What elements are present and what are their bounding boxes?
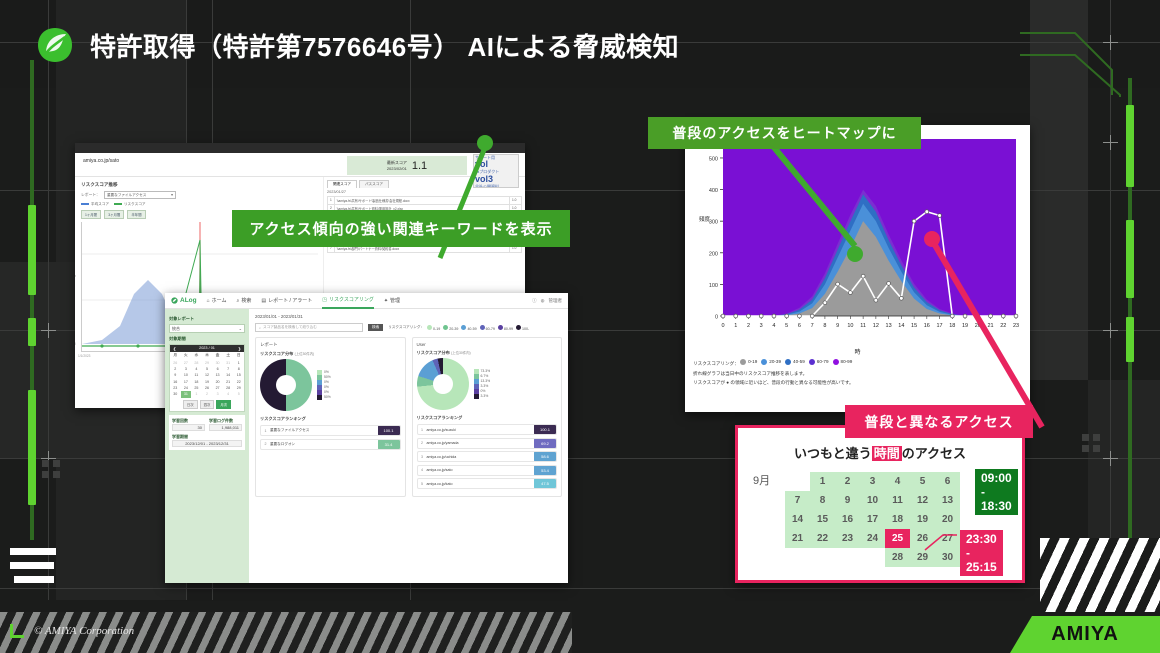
calendar-day[interactable]: 3	[212, 391, 223, 397]
amiya-brand-tag: AMIYA	[1010, 616, 1160, 653]
chart-legend-item: 20-39	[761, 358, 781, 366]
latest-score-label: 最新スコア	[387, 160, 407, 165]
report-donut-wrap: 0%50%0%0%0%50%	[260, 359, 401, 411]
ranking-score: 69.2	[534, 438, 556, 449]
risk-trend-title: リスクスコア推移	[81, 182, 317, 188]
anomaly-calendar-day[interactable]: 7	[785, 491, 810, 510]
user-donut-chart	[417, 358, 469, 410]
calendar-monthly-button[interactable]: 月次	[216, 400, 231, 409]
ranking-row[interactable]: 4amiya.co.jp/sato53.4	[417, 465, 558, 476]
svg-text:0: 0	[715, 315, 718, 321]
leader-dot-heatmap	[847, 246, 863, 262]
report-select-value: 重要なファイルアクセス	[107, 193, 146, 198]
callout-heatmap: 普段のアクセスをヒートマップに	[648, 117, 921, 149]
anomaly-calendar-day[interactable]: 21	[785, 529, 810, 548]
svg-text:頻度: 頻度	[699, 215, 711, 223]
user-donut-title: リスクスコア分布 (上位30件内)	[417, 350, 558, 356]
ranking-index: 5	[418, 482, 427, 486]
trend-legend: 平均スコア リスクスコア	[81, 202, 317, 207]
anomaly-calendar-day[interactable]: 3	[860, 472, 885, 491]
ranking-score: 53.4	[534, 465, 556, 476]
ranking-name: amiya.co.jp/suzuki	[427, 428, 535, 432]
calendar-dow: 金	[212, 352, 223, 359]
risk-legend-item: 20-39	[443, 325, 458, 331]
range-1m-button[interactable]: 1ヶ月間	[81, 210, 101, 219]
report-ranking-title: リスクスコアランキング	[260, 416, 401, 422]
tab-path-score[interactable]: パススコア	[359, 180, 389, 188]
crosshair-marker	[41, 323, 56, 338]
callout-keywords: アクセス傾向の強い関連キーワードを表示	[232, 210, 570, 247]
anomaly-calendar-day	[860, 548, 885, 567]
svg-text:4: 4	[772, 323, 775, 329]
svg-text:15: 15	[911, 323, 917, 329]
y-tick: 0	[75, 342, 76, 346]
crosshair-marker	[1103, 451, 1118, 466]
alog-user-name: 管理者	[549, 298, 563, 304]
legend-risk: リスクスコア	[114, 202, 145, 207]
chevron-down-icon: ⌄	[239, 326, 242, 331]
calendar-day[interactable]: 1	[191, 391, 202, 397]
accent-bar-left-lit	[28, 390, 36, 505]
chart-legend-item: 60-79	[809, 358, 829, 366]
crosshair-marker	[1103, 323, 1118, 338]
alog-sidebar: 対象レポート 統合⌄ 対象期間 ❮ 2023 / 01 ❯ 月火水木金土日262…	[165, 309, 249, 583]
calendar-header: ❮ 2023 / 01 ❯	[170, 345, 244, 352]
alog-nav-search[interactable]: ⌕検索	[237, 297, 252, 304]
footer-stripes-right	[1040, 538, 1160, 612]
user-ranking-title: リスクスコアランキング	[417, 415, 558, 421]
accent-bar-left-lit	[28, 205, 36, 295]
anomaly-calendar-day[interactable]: 5	[910, 472, 935, 491]
report-donut-title: リスクスコア分布 (上位30件内)	[260, 351, 401, 357]
anomaly-calendar-day[interactable]: 23	[835, 529, 860, 548]
menu-icon[interactable]	[10, 548, 56, 590]
ranking-name: 重要なログオン	[270, 442, 378, 447]
anomaly-calendar-day[interactable]: 15	[810, 510, 835, 529]
report-donut-legend: 0%50%0%0%0%50%	[317, 370, 331, 400]
user-donut-legend: 73.3%6.7%13.3%3.3%0%3.3%	[474, 369, 491, 399]
ranking-score: 100.1	[378, 425, 400, 436]
alog-brand-text: ALog	[180, 297, 197, 304]
alog-screenshot[interactable]: ALog ⌂ホーム ⌕検索 ▤レポート / アラート ◳リスクスコアリング ✦管…	[165, 293, 568, 583]
anomaly-calendar-month: 9月	[753, 472, 770, 488]
report-panel: レポート リスクスコア分布 (上位30件内) 0%50%0%0%0%50% リス…	[255, 337, 406, 497]
ranking-index: 3	[418, 455, 427, 459]
calendar-day[interactable]: 5	[233, 391, 244, 397]
corner-trace-lines	[1020, 25, 1160, 105]
leader-line-keywords	[430, 140, 530, 270]
ranking-row[interactable]: 3amiya.co.jp/uchida58.6	[417, 451, 558, 462]
anomaly-calendar-day[interactable]: 9	[835, 491, 860, 510]
anomaly-calendar-title: いつもと違う時間のアクセス	[738, 443, 1022, 462]
header: 特許取得（特許第7576646号） AIによる脅威検知	[36, 26, 679, 64]
calendar-daily-button[interactable]: 日次	[183, 400, 198, 409]
risk-legend-label: リスクスコアリング：	[388, 325, 424, 330]
anomaly-calendar-day[interactable]: 11	[885, 491, 910, 510]
range-3m-button[interactable]: 3ヶ月間	[104, 210, 124, 219]
dot-grid-decoration	[1082, 434, 1100, 452]
alog-nav-admin[interactable]: ✦管理	[384, 297, 400, 304]
ranking-score: 31.4	[378, 439, 400, 450]
anomaly-calendar-grid-wrap: 9月 1234567891011121314151617181920212223…	[785, 472, 975, 567]
leader-line-anomaly	[920, 235, 1050, 430]
user-icon[interactable]: ◍	[541, 298, 545, 304]
ranking-score: 100.1	[534, 424, 556, 435]
calendar-day[interactable]: 2	[202, 391, 213, 397]
train-log-value: 1,988,011	[209, 424, 242, 431]
anomaly-connector-line	[885, 517, 975, 552]
range-6m-button[interactable]: 半年間	[127, 210, 145, 219]
user-donut-wrap: 73.3%6.7%13.3%3.3%0%3.3%	[417, 358, 558, 410]
footer: © AMIYA Corporation	[10, 624, 134, 638]
calendar-next-button[interactable]: ❯	[238, 346, 241, 351]
report-panel-header: レポート	[260, 342, 401, 348]
grid-line	[0, 588, 1160, 589]
risk-legend-item: 80-99	[498, 325, 513, 331]
crosshair-marker	[1103, 135, 1118, 150]
svg-text:300: 300	[709, 220, 718, 226]
ranking-row[interactable]: 5amiya.co.jp/kato47.5	[417, 478, 558, 489]
calendar-dow: 木	[202, 352, 213, 359]
svg-text:5: 5	[785, 323, 788, 329]
tab-related-score[interactable]: 関連スコア	[327, 180, 357, 188]
ranking-name: amiya.co.jp/kato	[427, 482, 535, 486]
ranking-name: amiya.co.jp/yamada	[427, 441, 535, 445]
calendar-dow: 月	[170, 352, 181, 359]
svg-text:6: 6	[798, 323, 801, 329]
accent-bar-right-lit	[1126, 105, 1134, 187]
ranking-name: amiya.co.jp/uchida	[427, 455, 535, 459]
report-select[interactable]: 重要なファイルアクセス▾	[104, 191, 176, 199]
anomaly-calendar-card[interactable]: いつもと違う時間のアクセス 9月 12345678910111213141516…	[735, 425, 1025, 583]
normal-time-badge: 09:00 - 18:30	[975, 469, 1018, 515]
anomaly-calendar-day	[810, 548, 835, 567]
amiya-leaf-logo-icon	[36, 26, 74, 64]
anomaly-calendar-day	[785, 472, 810, 491]
svg-text:8: 8	[823, 323, 826, 329]
svg-text:200: 200	[709, 251, 718, 257]
anomaly-calendar-day[interactable]: 14	[785, 510, 810, 529]
user-panel-header: User	[417, 342, 558, 347]
svg-text:13: 13	[886, 323, 892, 329]
svg-text:11: 11	[860, 323, 866, 329]
risk-legend-item: 60-79	[480, 325, 495, 331]
anomaly-calendar-day	[835, 548, 860, 567]
donut-legend-item: 3.3%	[474, 394, 491, 399]
leader-line-heatmap	[760, 140, 870, 255]
calendar-grid: 月火水木金土日262728293031123456789101112131415…	[170, 352, 244, 398]
risk-legend-item: 0-19	[427, 325, 440, 331]
report-select-label: レポート：	[81, 193, 100, 198]
ranking-row[interactable]: 1amiya.co.jp/suzuki100.1	[417, 424, 558, 435]
anomaly-calendar-day[interactable]: 22	[810, 529, 835, 548]
report-icon: ▤	[261, 298, 266, 304]
anomaly-calendar-day[interactable]: 16	[835, 510, 860, 529]
svg-text:2: 2	[747, 323, 750, 329]
sidebar-report-select[interactable]: 統合⌄	[169, 324, 245, 333]
anomaly-calendar-day[interactable]: 17	[860, 510, 885, 529]
anomaly-calendar-day[interactable]: 2	[835, 472, 860, 491]
train-count-value: 30	[172, 424, 205, 431]
ranking-row[interactable]: 1重要なファイルアクセス100.1	[260, 425, 401, 436]
leader-dot-keywords	[477, 135, 493, 151]
x-tick: 1/1/2023	[78, 354, 90, 358]
svg-text:14: 14	[898, 323, 904, 329]
slide-root: 特許取得（特許第7576646号） AIによる脅威検知 amiya.co.jp/…	[0, 0, 1160, 653]
ranking-name: 重要なファイルアクセス	[270, 428, 378, 433]
alog-nav-report[interactable]: ▤レポート / アラート	[261, 297, 312, 304]
copyright-text: © AMIYA Corporation	[34, 625, 134, 637]
ranking-index: 1	[261, 429, 270, 433]
footer-corner-icon	[10, 624, 24, 638]
gear-icon: ✦	[384, 298, 388, 304]
alog-brand-logo: ALog	[171, 297, 197, 304]
svg-text:7: 7	[811, 323, 814, 329]
alog-risk-legend: リスクスコアリング： 0-1920-3940-5960-7980-99100-	[388, 325, 529, 331]
alog-search-placeholder: スコア製品名を検索して絞り込む	[263, 325, 317, 330]
grid-line	[48, 0, 49, 600]
calendar-day[interactable]: 30	[170, 391, 181, 397]
anomaly-calendar-day[interactable]: 1	[810, 472, 835, 491]
sidebar-report-value: 統合	[172, 326, 180, 332]
accent-bar-right-lit	[1126, 317, 1134, 362]
search-icon: ⌕	[237, 298, 240, 304]
report-selector-row: レポート： 重要なファイルアクセス▾	[81, 191, 317, 199]
train-period-value: 2023/12/01 - 2023/12/31	[172, 440, 242, 447]
ranking-name: amiya.co.jp/sato	[427, 468, 535, 472]
ranking-row[interactable]: 2重要なログオン31.4	[260, 439, 401, 450]
anomaly-calendar-day	[785, 548, 810, 567]
callout-anomaly: 普段と異なるアクセス	[845, 405, 1033, 438]
anomaly-calendar-day[interactable]: 6	[935, 472, 960, 491]
latest-score-value: 1.1	[412, 160, 427, 172]
sidebar-period-label: 対象期間	[169, 336, 245, 342]
search-icon: ⌕	[259, 326, 261, 330]
ranking-index: 1	[418, 428, 427, 432]
anomaly-calendar-day[interactable]: 10	[860, 491, 885, 510]
dashboard-url-text: amiya.co.jp/sato	[83, 158, 119, 164]
user-panel: User リスクスコア分布 (上位30件内) 73.3%6.7%13.3%3.3…	[412, 337, 563, 497]
anomaly-calendar-day[interactable]: 13	[935, 491, 960, 510]
alog-navbar: ALog ⌂ホーム ⌕検索 ▤レポート / アラート ◳リスクスコアリング ✦管…	[165, 293, 568, 309]
svg-text:3: 3	[760, 323, 763, 329]
risk-legend-item: 100-	[516, 325, 529, 331]
anomaly-calendar-day[interactable]: 12	[910, 491, 935, 510]
donut-legend-item: 50%	[317, 395, 331, 400]
anomaly-calendar-day[interactable]: 4	[885, 472, 910, 491]
page-title: 特許取得（特許第7576646号） AIによる脅威検知	[90, 27, 679, 64]
svg-text:1: 1	[734, 323, 737, 329]
alog-controls: ⌕ スコア製品名を検索して絞り込む 検索 リスクスコアリング： 0-1920-3…	[255, 323, 562, 332]
calendar-dow: 火	[181, 352, 192, 359]
chart-legend-item: 80-99	[833, 358, 853, 366]
sidebar-training-stats: 学習回数 30 学習ログ件数 1,988,011 学習期間 2023/12/01…	[169, 415, 245, 450]
anomaly-calendar-day[interactable]: 8	[810, 491, 835, 510]
calendar-weekly-button[interactable]: 週次	[200, 400, 215, 409]
ranking-index: 2	[418, 441, 427, 445]
alog-main: 2023/01/01 - 2023/01/31 ⌕ スコア製品名を検索して絞り込…	[249, 309, 568, 583]
alog-search-button[interactable]: 検索	[368, 324, 383, 331]
latest-score-date: 2023/02/01	[387, 166, 407, 171]
amiya-brand-text: AMIYA	[1051, 623, 1119, 646]
svg-text:12: 12	[873, 323, 879, 329]
calendar-dow: 日	[233, 352, 244, 359]
alog-panels: レポート リスクスコア分布 (上位30件内) 0%50%0%0%0%50% リス…	[255, 337, 562, 497]
calendar-dow: 水	[191, 352, 202, 359]
user-ranking-list: 1amiya.co.jp/suzuki100.12amiya.co.jp/yam…	[417, 424, 558, 489]
calendar-month: 2023 / 01	[199, 346, 215, 351]
table-cell-no: 1	[328, 197, 335, 205]
calendar-day[interactable]: 4	[223, 391, 234, 397]
calendar-prev-button[interactable]: ❮	[173, 346, 176, 351]
alog-nav-right: ⓘ ◍ 管理者	[532, 298, 562, 304]
alog-date-range: 2023/01/01 - 2023/01/31	[255, 314, 562, 319]
ranking-score: 47.5	[534, 478, 556, 489]
chart-legend-label: リスクスコアリング：	[693, 361, 739, 366]
leader-dot-anomaly	[924, 231, 940, 247]
risk-icon: ◳	[322, 293, 327, 308]
calendar-mode-buttons: 日次 週次 月次	[170, 398, 244, 411]
ranking-row[interactable]: 2amiya.co.jp/yamada69.2	[417, 438, 558, 449]
chevron-down-icon: ▾	[171, 193, 173, 197]
ranking-index: 4	[418, 468, 427, 472]
chart-legend-item: 40-59	[785, 358, 805, 366]
help-icon[interactable]: ⓘ	[532, 298, 537, 304]
svg-text:0: 0	[721, 323, 724, 329]
svg-text:100: 100	[709, 283, 718, 289]
ranking-score: 58.6	[534, 451, 556, 462]
sidebar-calendar[interactable]: ❮ 2023 / 01 ❯ 月火水木金土日2627282930311234567…	[169, 344, 245, 412]
alog-body: 対象レポート 統合⌄ 対象期間 ❮ 2023 / 01 ❯ 月火水木金土日262…	[165, 309, 568, 583]
sidebar-report-label: 対象レポート	[169, 316, 245, 322]
accent-bar-left-lit	[28, 318, 36, 346]
alog-search-input[interactable]: ⌕ スコア製品名を検索して絞り込む	[255, 323, 363, 332]
svg-text:500: 500	[709, 156, 718, 162]
alog-nav-risk-scoring[interactable]: ◳リスクスコアリング	[322, 293, 374, 309]
accent-bar-right-lit	[1126, 220, 1134, 298]
svg-text:10: 10	[847, 323, 853, 329]
dot-grid-decoration	[42, 460, 60, 478]
report-ranking-list: 1重要なファイルアクセス100.12重要なログオン31.4	[260, 425, 401, 450]
alog-nav-home[interactable]: ⌂ホーム	[207, 297, 227, 304]
chart-legend-item: 0-19	[740, 358, 757, 366]
home-icon: ⌂	[207, 298, 210, 304]
svg-text:9: 9	[836, 323, 839, 329]
anomaly-calendar-day[interactable]: 24	[860, 529, 885, 548]
report-donut-chart	[260, 359, 312, 411]
legend-avg: 平均スコア	[81, 202, 109, 207]
y-axis-title: リスクスコア	[75, 274, 76, 279]
risk-legend-item: 40-59	[461, 325, 476, 331]
calendar-day[interactable]: 31	[181, 391, 192, 397]
calendar-dow: 土	[223, 352, 234, 359]
ranking-index: 2	[261, 442, 270, 446]
svg-text:400: 400	[709, 188, 718, 194]
